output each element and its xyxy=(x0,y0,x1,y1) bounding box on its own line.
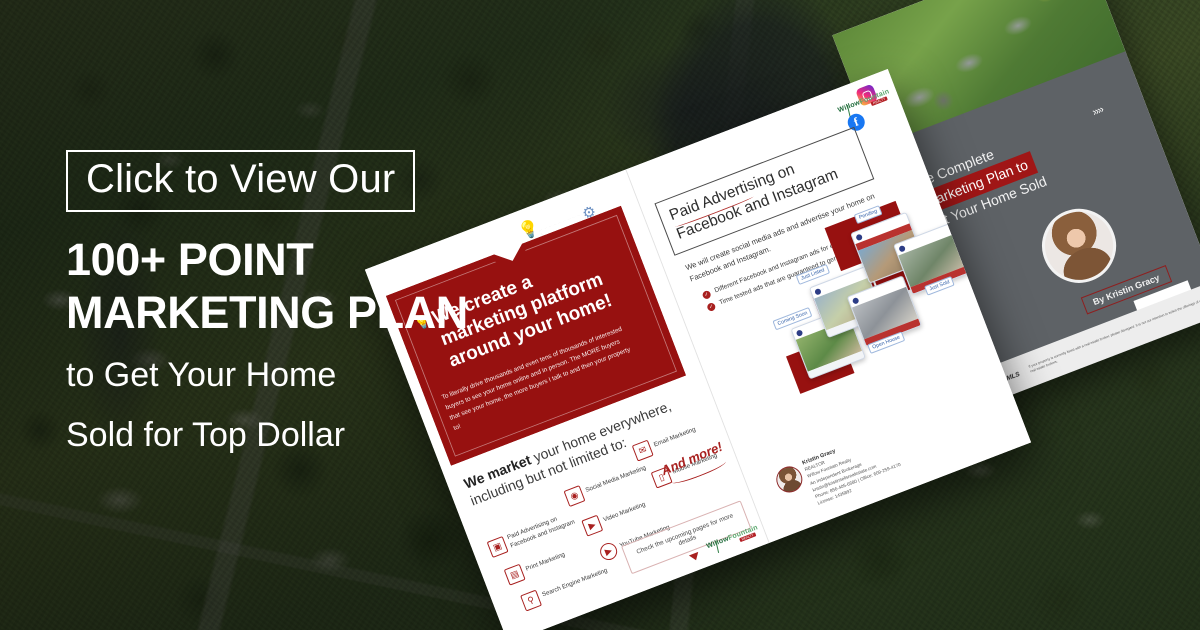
headline-line-1: 100+ POINT xyxy=(66,234,536,287)
search-engine-icon: ⚲ xyxy=(520,590,542,612)
logo-stalk-icon xyxy=(715,539,729,553)
cta-label: Click to View Our xyxy=(86,158,395,200)
mls-icon: MLS xyxy=(1005,370,1020,381)
avatar xyxy=(795,329,803,337)
logo-stalk-icon xyxy=(847,103,861,117)
youtube-icon: ▶ xyxy=(598,541,620,563)
print-marketing-icon: ▤ xyxy=(504,564,526,586)
right-page-brokerage-logo: WillowFountain REALTY xyxy=(836,80,890,121)
facebook-ads-icon: ▣ xyxy=(487,536,509,558)
social-media-icon: ◉ xyxy=(564,485,586,507)
headline-block: Click to View Our 100+ POINT MARKETING P… xyxy=(66,150,536,458)
agent-headshot xyxy=(773,463,807,497)
channel-label: Search Engine Marketing xyxy=(541,567,609,599)
video-marketing-icon: ▶ xyxy=(581,515,603,537)
avatar xyxy=(898,244,906,252)
triangle-down-icon xyxy=(689,552,701,562)
check-icon: ✓ xyxy=(706,302,716,312)
agent-text-lines: Kristin Gracy REALTOR Willow Fountain Re… xyxy=(802,429,905,507)
click-to-view-button[interactable]: Click to View Our xyxy=(66,150,415,212)
headline-line-2: MARKETING PLAN xyxy=(66,287,536,340)
subheadline-line-1: to Get Your Home xyxy=(66,353,536,398)
cover-agent-avatar xyxy=(1031,198,1127,294)
channel-label: Print Marketing xyxy=(525,552,567,574)
subheadline-line-2: Sold for Top Dollar xyxy=(66,413,536,458)
channel-label: Video Marketing xyxy=(603,501,648,525)
avatar xyxy=(852,296,860,304)
hero-banner[interactable]: Click to View Our 100+ POINT MARKETING P… xyxy=(0,0,1200,630)
check-icon: ✓ xyxy=(701,290,711,300)
channel-label: Social Media Marketing xyxy=(585,465,648,496)
avatar xyxy=(855,233,863,241)
avatar xyxy=(814,287,822,295)
